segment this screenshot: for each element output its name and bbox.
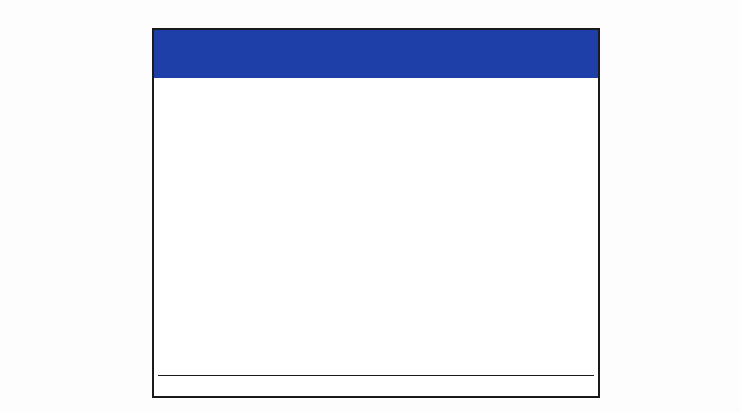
- footer-divider: [158, 375, 594, 376]
- chart-body: [154, 78, 598, 396]
- chart-title-bar: [154, 30, 598, 78]
- chart-panel: [152, 28, 600, 398]
- chart-title-line: [166, 36, 588, 53]
- charts-svg: [154, 78, 598, 396]
